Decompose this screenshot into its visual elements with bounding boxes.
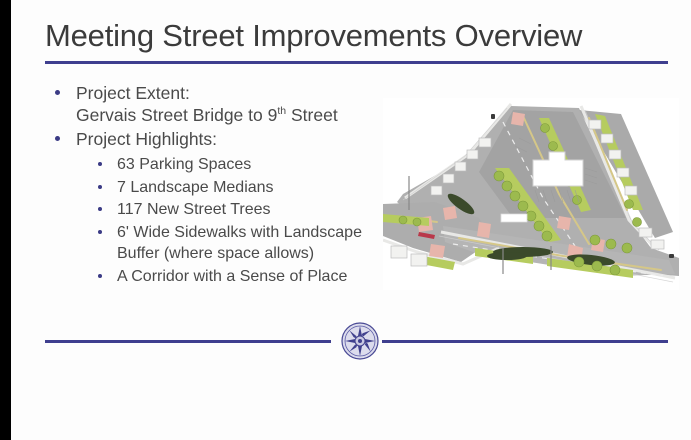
sub-bullet-dot-icon xyxy=(98,230,102,234)
site-plan-svg xyxy=(383,98,679,290)
bullet-dot-icon xyxy=(55,90,60,95)
compass-rose-svg xyxy=(341,322,379,360)
title-underline-rule xyxy=(45,61,668,64)
footer-rule-left xyxy=(45,340,331,343)
extent-text-post: Street xyxy=(286,105,338,125)
list-item-label: A Corridor with a Sense of Place xyxy=(117,268,347,285)
street-improvement-site-plan-image xyxy=(383,98,679,290)
sub-bullet-dot-icon xyxy=(98,274,102,278)
letterbox-bar-left xyxy=(0,0,11,440)
sub-bullet-dot-icon xyxy=(98,162,102,166)
slide-root: Meeting Street Improvements Overview Pro… xyxy=(0,0,691,440)
list-item-label: 63 Parking Spaces xyxy=(117,156,251,173)
bullet-label: Project Highlights: xyxy=(76,129,217,149)
bullet-label: Project Extent: xyxy=(76,83,190,103)
slide-canvas: Meeting Street Improvements Overview Pro… xyxy=(11,0,691,440)
list-item-label: 7 Landscape Medians xyxy=(117,179,274,196)
ordinal-suffix: th xyxy=(277,105,286,117)
list-item-label: 117 New Street Trees xyxy=(117,201,271,218)
list-item-label: 6' Wide Sidewalks with Landscape xyxy=(117,224,362,241)
page-title: Meeting Street Improvements Overview xyxy=(45,17,665,55)
sub-bullet-dot-icon xyxy=(98,185,102,189)
bullet-dot-icon xyxy=(55,136,60,141)
footer-rule-right xyxy=(382,340,668,343)
compass-rose-icon xyxy=(341,322,379,360)
sub-bullet-dot-icon xyxy=(98,207,102,211)
extent-text-pre: Gervais Street Bridge to 9 xyxy=(76,105,277,125)
